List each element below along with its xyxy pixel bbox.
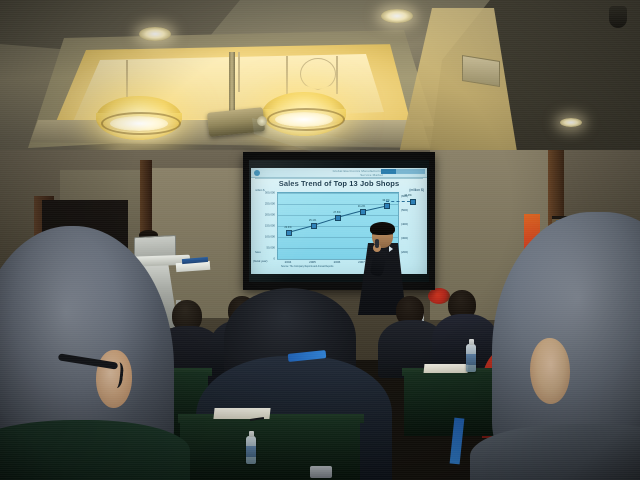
chart-right-tick-label: (200)	[401, 250, 408, 254]
chart-x-tick-label: 2005	[309, 260, 316, 264]
chart-data-point	[360, 209, 366, 215]
chart-x-tick-label: 2007	[358, 260, 365, 264]
table-skirt	[180, 420, 360, 480]
chart-y-tick-label: 200,000	[253, 212, 275, 216]
chart-annotation: 34.0%	[404, 194, 411, 197]
chart-gridline	[278, 204, 398, 205]
chart-y-tick-label: 150,000	[253, 223, 275, 227]
hanging-wire	[126, 60, 128, 98]
chart-right-axis-unit: (million $)	[409, 188, 424, 192]
chart-data-point	[384, 203, 390, 209]
chart-data-point	[286, 230, 292, 236]
hanging-wire-loop	[300, 58, 336, 90]
chart-data-point	[335, 215, 341, 221]
chart-gridline	[278, 193, 398, 194]
chart-y-tick-label: 50,000	[253, 245, 275, 249]
chart-right-tick-label: (300)	[401, 236, 408, 240]
presentation-slide: Global Electronics Manufacturing Service…	[251, 168, 427, 274]
chart-data-point	[410, 199, 416, 205]
pendant-lamp	[262, 92, 346, 136]
chart-left-note: Sales	[255, 252, 261, 255]
hanging-wire	[238, 52, 240, 92]
chart-y-tick-label: 250,000	[253, 201, 275, 205]
paper-handout	[424, 364, 469, 373]
slide-title: Sales Trend of Top 13 Job Shops	[251, 179, 427, 188]
downlight-icon	[381, 9, 413, 23]
badge-clip	[310, 466, 332, 478]
chart-data-point	[311, 223, 317, 229]
flower-arrangement	[428, 288, 450, 304]
chart-point-label: 22.4%	[284, 226, 291, 229]
microphone-icon	[375, 239, 379, 248]
chart-x-axis-label: (fiscal year)	[253, 259, 267, 263]
chart-y-tick-label: 100,000	[253, 234, 275, 238]
hanging-wire	[336, 56, 338, 94]
downlight-icon	[139, 27, 171, 41]
chart-x-tick-label: 2004	[285, 260, 292, 264]
water-bottle	[246, 436, 256, 464]
foreground-shoulder-left	[0, 420, 190, 480]
chart-point-label: 27.6%	[333, 211, 340, 214]
pointer-cursor-icon	[389, 246, 393, 252]
slide-logo-icon	[254, 170, 260, 176]
projector-mount-pole	[229, 52, 235, 114]
chart-point-label: 31.2%	[358, 205, 365, 208]
pendant-lamp	[96, 96, 182, 140]
projection-screen: Global Electronics Manufacturing Service…	[249, 160, 429, 282]
lamp-rim	[267, 108, 345, 131]
chart-y-tick-label: 300,000	[253, 190, 275, 194]
ear	[530, 338, 570, 404]
lamp-rim	[101, 112, 181, 135]
downlight-icon	[560, 118, 582, 127]
chart-x-tick-label: 2006	[334, 260, 341, 264]
water-bottle	[466, 344, 476, 372]
chart-point-label: 25.1%	[309, 219, 316, 222]
chart-right-tick-label: (500)	[401, 208, 408, 212]
standing-speaker-hair	[370, 222, 395, 235]
conference-room-photo: Global Electronics Manufacturing Service…	[0, 0, 640, 480]
hanging-wire	[286, 56, 288, 94]
slide-header-text: Global Electronics Manufacturing Service…	[325, 169, 383, 177]
ceiling-speaker-icon	[609, 6, 627, 28]
slide-header-tab	[381, 169, 425, 174]
chart-projection-dashed-line	[386, 201, 410, 202]
chart-right-tick-label: (400)	[401, 222, 408, 226]
